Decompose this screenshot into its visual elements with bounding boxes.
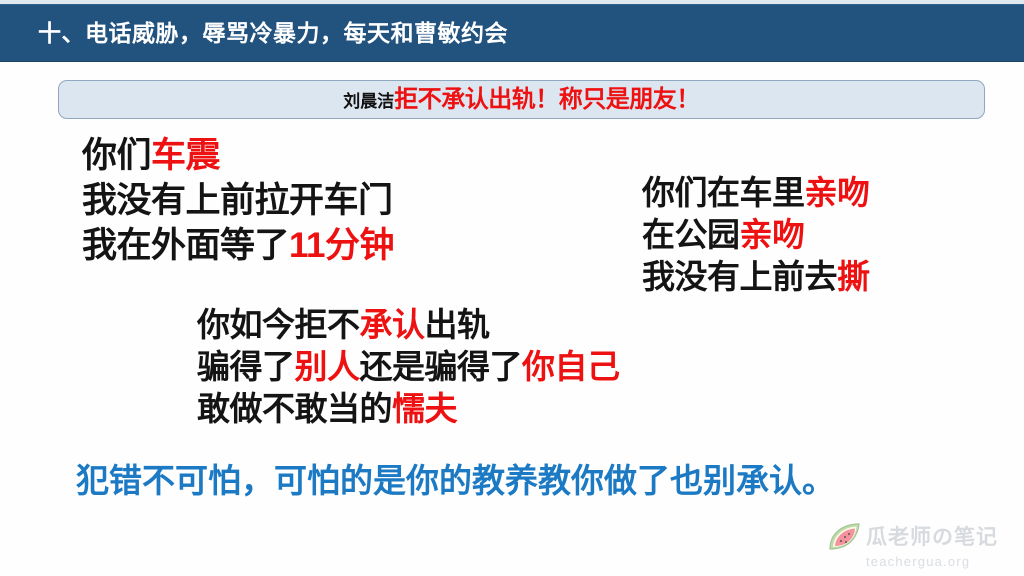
slide-canvas: 十、电话威胁，辱骂冷暴力，每天和曹敏约会 刘晨洁拒不承认出轨！称只是朋友！ 你们…	[0, 0, 1024, 576]
slide-header-bar: 十、电话威胁，辱骂冷暴力，每天和曹敏约会	[0, 4, 1024, 62]
emphasis-text: 承认	[360, 306, 425, 343]
body-text: 敢做不敢当的	[197, 390, 392, 427]
quote-block-middle: 你如今拒不承认出轨骗得了别人还是骗得了你自己敢做不敢当的懦夫	[197, 304, 620, 431]
body-text: 我在外面等了	[82, 226, 289, 265]
subtitle-callout-box: 刘晨洁拒不承认出轨！称只是朋友！	[58, 80, 985, 119]
body-text: 出轨	[425, 306, 490, 343]
subtitle-claim: 拒不承认出轨！称只是朋友！	[394, 86, 700, 113]
watermark-brand: 瓜老师の笔记	[866, 527, 998, 548]
quote-line: 我在外面等了11分钟	[82, 224, 394, 269]
body-text: 骗得了	[197, 348, 295, 385]
quote-block-left: 你们车震我没有上前拉开车门我在外面等了11分钟	[82, 134, 394, 268]
quote-line: 我没有上前去撕	[642, 256, 870, 298]
watermelon-icon	[828, 522, 862, 552]
quote-line: 敢做不敢当的懦夫	[197, 388, 620, 430]
body-text: 你们在车里	[642, 174, 805, 211]
page-title: 十、电话威胁，辱骂冷暴力，每天和曹敏约会	[38, 22, 508, 45]
body-text: 你们	[82, 136, 151, 175]
emphasis-text: 亲吻	[740, 216, 805, 253]
quote-block-right: 你们在车里亲吻在公园亲吻我没有上前去撕	[642, 172, 870, 299]
emphasis-text: 车震	[151, 136, 220, 175]
emphasis-text: 11分钟	[289, 226, 394, 265]
watermark: 瓜老师の笔记 teachergua.org	[828, 521, 1018, 571]
body-text: 你如今拒不	[197, 306, 360, 343]
emphasis-text: 亲吻	[805, 174, 870, 211]
quote-line: 我没有上前拉开车门	[82, 179, 394, 224]
quote-line: 骗得了别人还是骗得了你自己	[197, 346, 620, 388]
emphasis-text: 懦夫	[392, 390, 457, 427]
body-text: 还是骗得了	[360, 348, 523, 385]
watermark-row: 瓜老师の笔记	[828, 521, 1018, 553]
watermark-url: teachergua.org	[866, 555, 1018, 568]
emphasis-text: 你自己	[522, 348, 620, 385]
subtitle-text: 刘晨洁拒不承认出轨！称只是朋友！	[343, 88, 700, 112]
body-text: 在公园	[642, 216, 740, 253]
quote-line: 在公园亲吻	[642, 214, 870, 256]
conclusion-line: 犯错不可怕，可怕的是你的教养教你做了也别承认。	[76, 461, 835, 501]
quote-line: 你们车震	[82, 134, 394, 179]
quote-line: 你如今拒不承认出轨	[197, 304, 620, 346]
quote-line: 你们在车里亲吻	[642, 172, 870, 214]
emphasis-text: 别人	[295, 348, 360, 385]
subtitle-person-name: 刘晨洁	[343, 92, 394, 111]
body-text: 我没有上前去	[642, 258, 837, 295]
body-text: 我没有上前拉开车门	[82, 181, 393, 220]
emphasis-text: 撕	[837, 258, 870, 295]
